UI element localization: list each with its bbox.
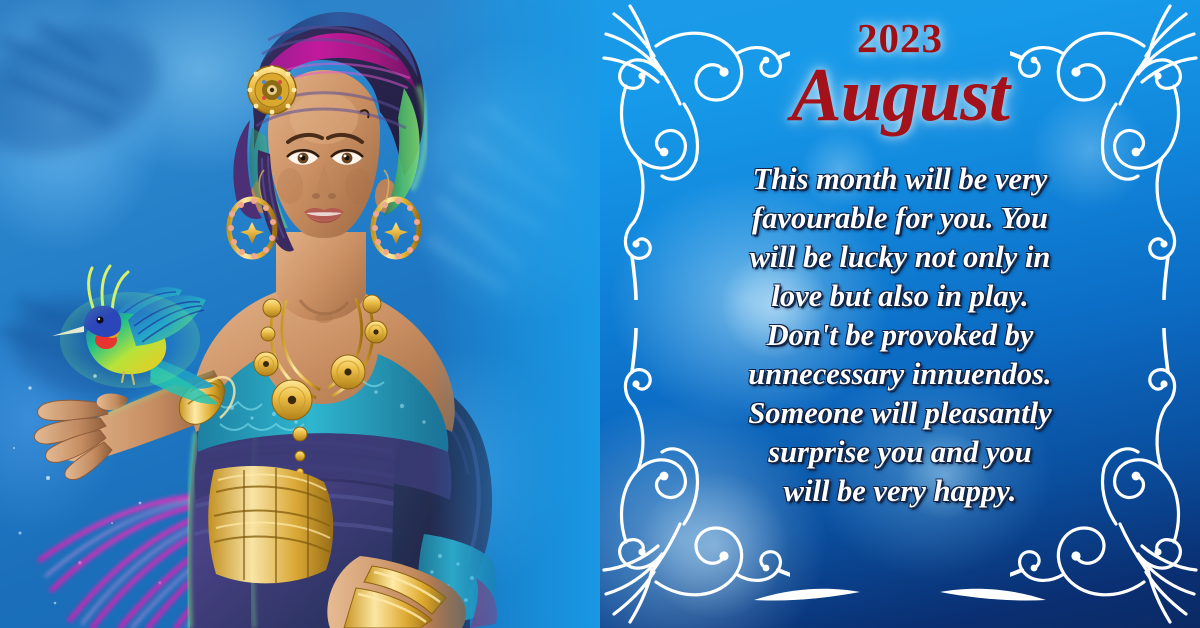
forecast-line: favourable for you. You xyxy=(648,199,1152,238)
forecast-line: unnecessary innuendos. xyxy=(648,355,1152,394)
forecast-line: This month will be very xyxy=(648,160,1152,199)
forecast-line: will be very happy. xyxy=(648,472,1152,511)
forecast-text: This month will be very favourable for y… xyxy=(648,160,1152,511)
illustration-panel xyxy=(0,0,620,628)
forecast-line: Someone will pleasantly xyxy=(648,394,1152,433)
turban-brooch xyxy=(248,66,297,115)
forearm-bracelets xyxy=(327,556,466,628)
gold-arm-cuff xyxy=(208,466,333,584)
month-title: August xyxy=(600,52,1200,139)
horoscope-card: 2023 August This month will be very favo… xyxy=(0,0,1200,628)
text-panel: 2023 August This month will be very favo… xyxy=(600,0,1200,628)
forecast-line: will be lucky not only in xyxy=(648,238,1152,277)
forecast-line: surprise you and you xyxy=(648,433,1152,472)
bottom-border-flourish xyxy=(750,580,1050,620)
forecast-line: love but also in play. xyxy=(648,277,1152,316)
fortune-teller-illustration xyxy=(0,0,620,628)
forecast-line: Don't be provoked by xyxy=(648,316,1152,355)
background-bokeh-blur xyxy=(420,68,581,201)
hummingbird xyxy=(52,266,218,404)
